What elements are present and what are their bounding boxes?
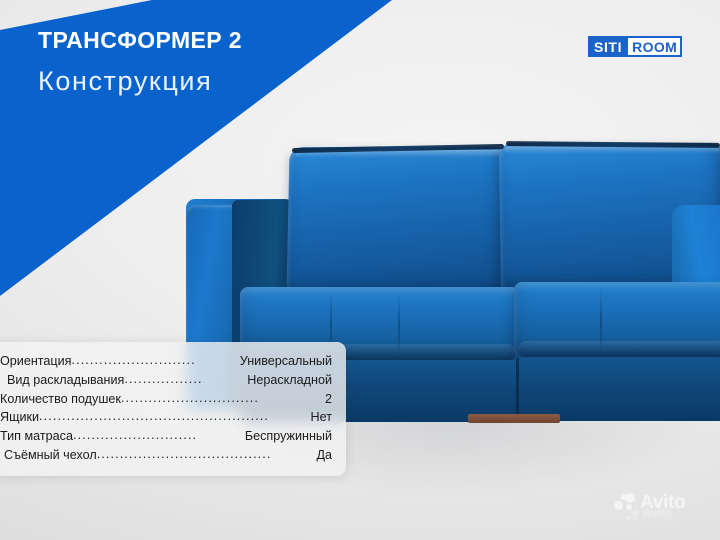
spec-value: Беспружинный [245, 430, 332, 443]
avito-watermark-ghost: Avito [626, 507, 671, 519]
specification-card: Ориентация ........................... У… [0, 342, 346, 476]
sofa-wooden-foot [468, 414, 560, 423]
spec-row: Ящики ..................................… [0, 408, 332, 427]
spec-row: Ориентация ........................... У… [0, 352, 332, 371]
spec-value: 2 [325, 393, 332, 406]
spec-leader: ........................................… [39, 410, 311, 423]
spec-row: Количество подушек .....................… [0, 390, 332, 409]
sofa-back-cushion-left [286, 147, 509, 299]
title-block: ТРАНСФОРМЕР 2 Конструкция [38, 28, 368, 97]
sofa-base-right [514, 357, 720, 421]
spec-label: Ящики [0, 411, 39, 424]
spec-label: Количество подушек [0, 393, 121, 406]
spec-row: Тип матраса ........................... … [0, 427, 332, 446]
sofa-base-seam [516, 358, 519, 420]
spec-leader: ........................... [73, 429, 245, 442]
sofa-crease [398, 294, 400, 356]
avito-watermark: Avito Avito [614, 492, 685, 512]
spec-row: Съёмный чехол ..........................… [0, 446, 332, 465]
spec-leader: ........................... [72, 354, 240, 367]
spec-label: Вид раскладывания [7, 374, 124, 387]
product-slide: ТРАНСФОРМЕР 2 Конструкция SITI ROOM Орие… [0, 0, 720, 540]
spec-value: Нераскладной [247, 374, 332, 387]
avito-logo-icon-ghost [626, 509, 635, 516]
spec-value: Универсальный [240, 355, 332, 368]
sofa-seat-cushion-right [514, 282, 720, 362]
sitiroom-logo: SITI ROOM [588, 36, 682, 57]
spec-label: Ориентация [0, 355, 72, 368]
spec-leader: .............................. [121, 392, 325, 405]
logo-text-room: ROOM [626, 38, 680, 55]
spec-label: Тип матраса [0, 430, 73, 443]
spec-value: Да [316, 449, 332, 462]
sofa-crease [600, 290, 602, 354]
spec-label: Съёмный чехол [4, 449, 97, 462]
spec-leader: ................. [124, 373, 247, 386]
logo-text-siti: SITI [590, 38, 626, 55]
page-subtitle: Конструкция [38, 67, 368, 97]
page-title: ТРАНСФОРМЕР 2 [38, 28, 368, 53]
spec-leader: ...................................... [97, 448, 317, 461]
avito-wordmark-ghost: Avito [643, 507, 671, 519]
spec-value: Нет [311, 411, 332, 424]
spec-row: Вид раскладывания ................. Нера… [0, 371, 332, 390]
